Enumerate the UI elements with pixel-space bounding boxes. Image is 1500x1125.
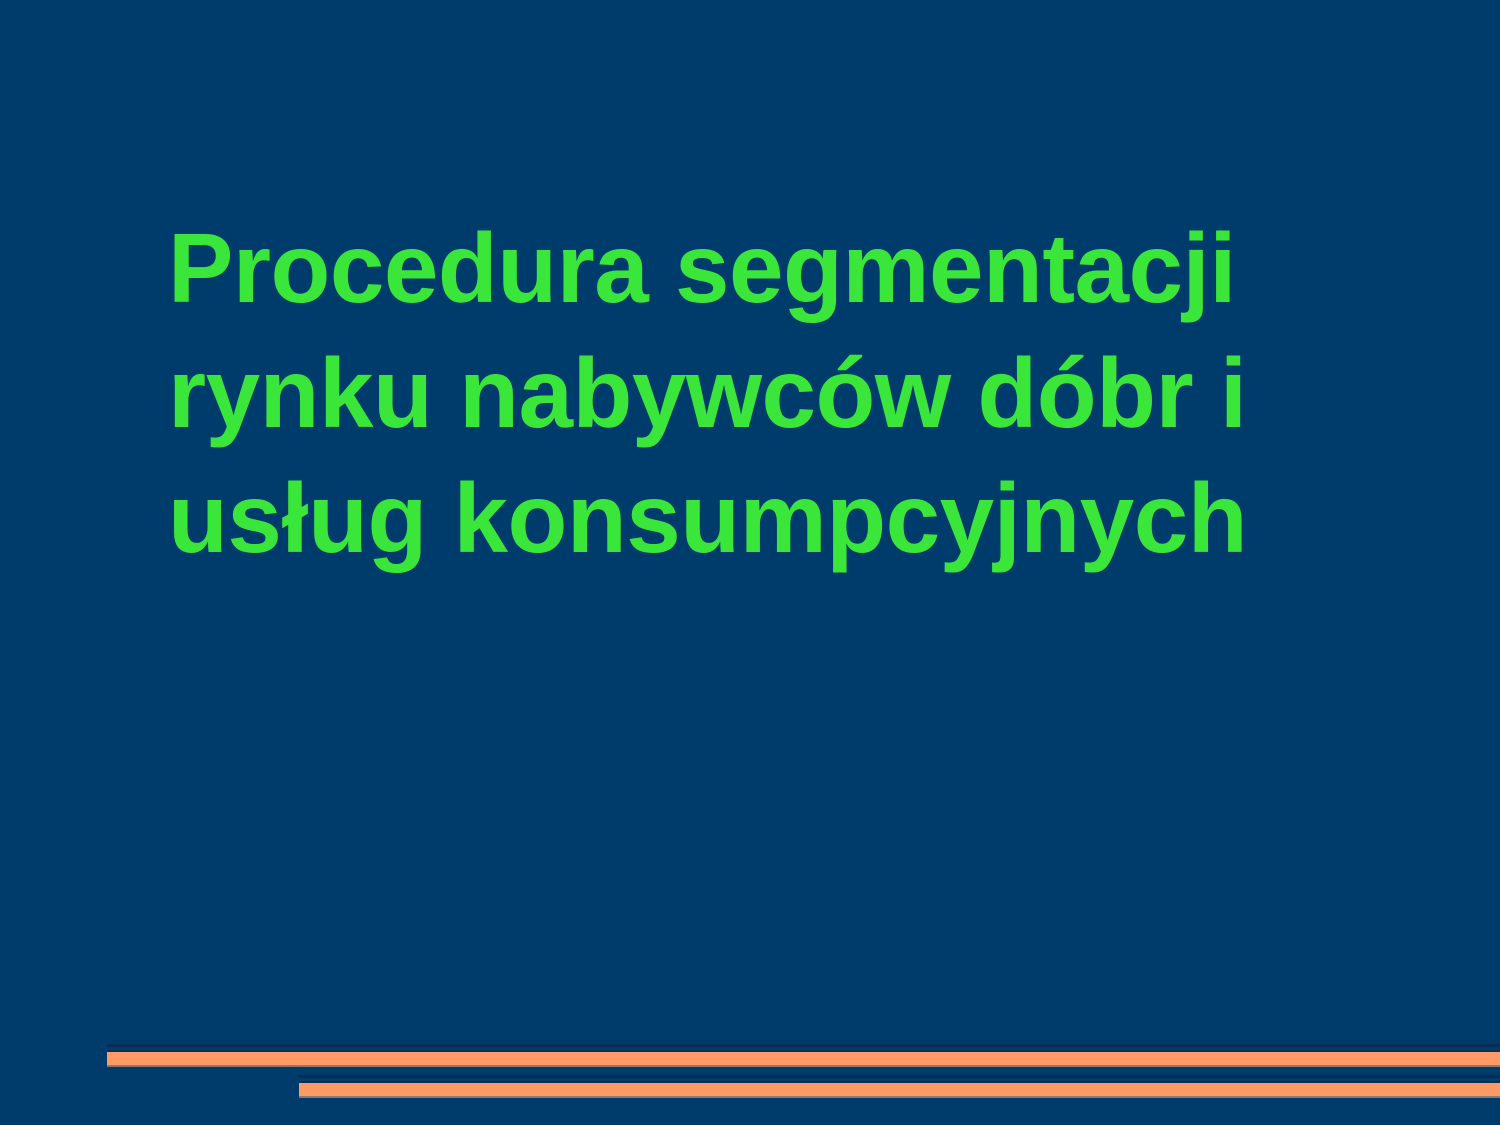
decorative-rule-upper — [107, 1044, 1500, 1047]
title-line-2: rynku nabywców dóbr i — [168, 331, 1348, 456]
presentation-slide: Procedura segmentacji rynku nabywców dób… — [0, 0, 1500, 1125]
decorative-rule-lower — [299, 1075, 1500, 1078]
decorative-bar-lower — [299, 1081, 1500, 1098]
title-line-3: usług konsumpcyjnych — [168, 456, 1348, 581]
title-line-1: Procedura segmentacji — [168, 206, 1348, 331]
decorative-bar-upper — [107, 1050, 1500, 1067]
slide-title: Procedura segmentacji rynku nabywców dób… — [168, 206, 1348, 581]
